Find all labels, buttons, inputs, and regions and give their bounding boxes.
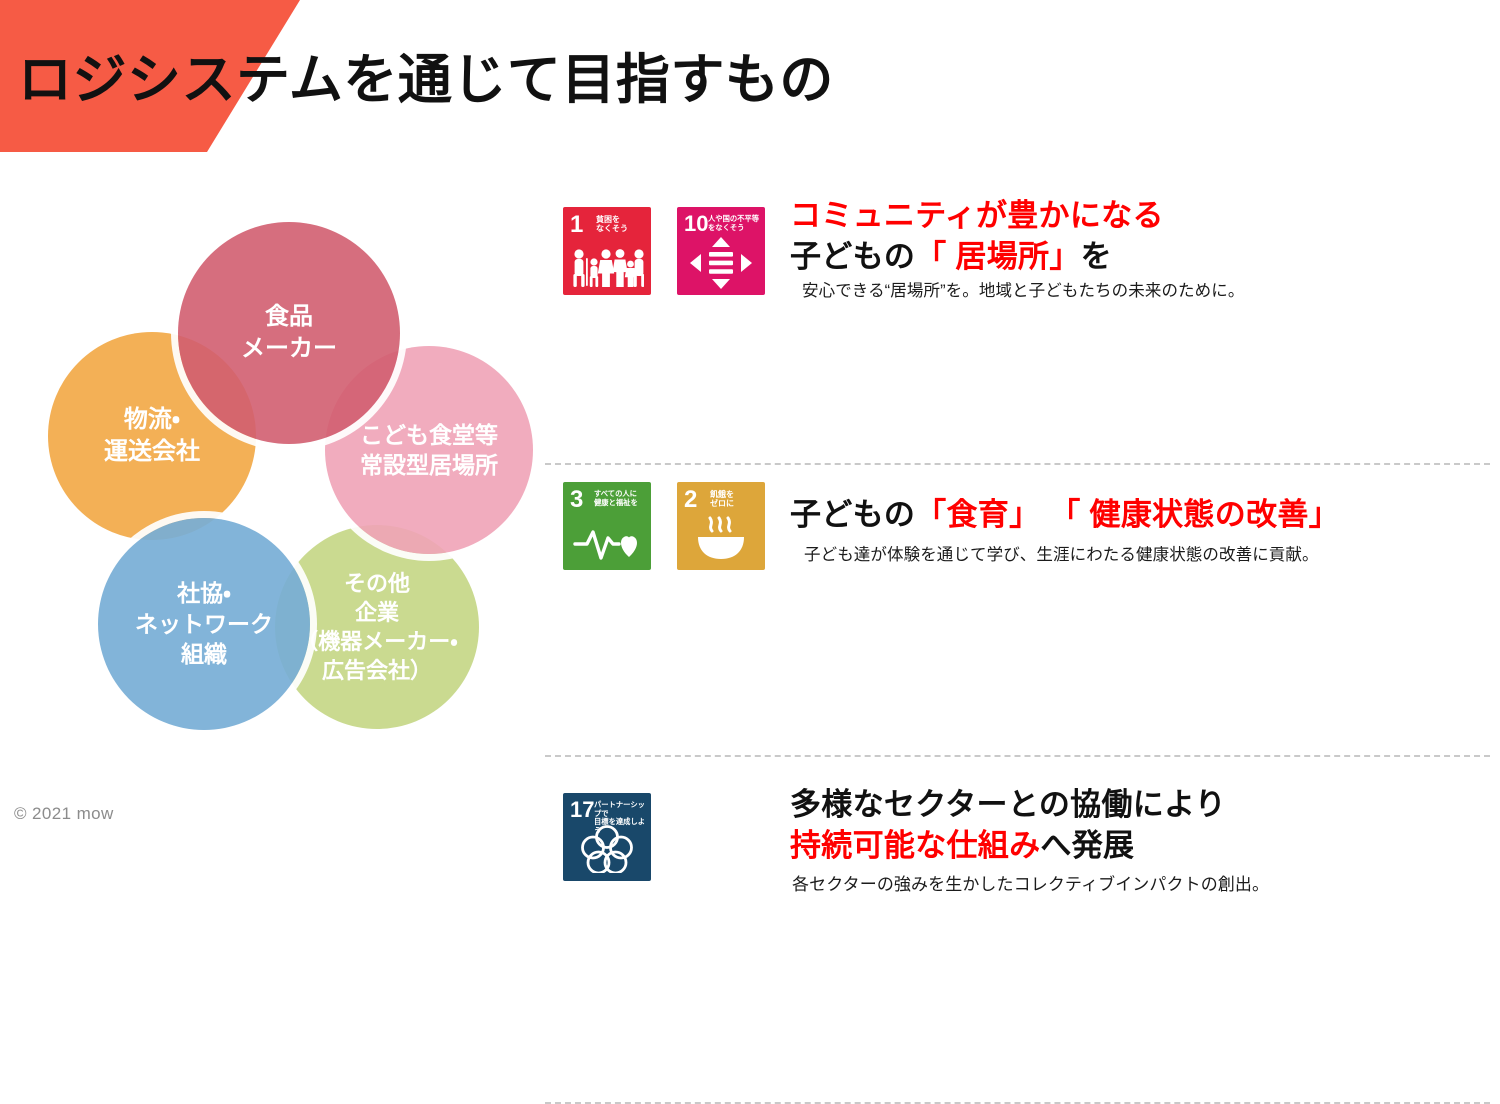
copyright-footer: © 2021 mow: [14, 804, 114, 824]
sdg-caption: 飢餓を ゼロに: [710, 490, 761, 509]
venn-circle-label: 物流・ 運送会社: [104, 404, 200, 467]
sdg-caption: すべての人に 健康と福祉を: [594, 490, 647, 507]
heartbeat-icon: [563, 524, 651, 560]
outcome-text-block: 多様なセクターとの協働により 持続可能な仕組みへ発展 各セクターの強みを生かした…: [790, 757, 1490, 897]
page-title: ロジシステムを通じて目指すもの: [18, 53, 834, 107]
outcome-headline-secondary: 持続可能な仕組みへ発展: [790, 826, 1490, 867]
headline-part-highlight: 「食育」 「 健康状態の改善」: [915, 497, 1340, 532]
venn-circle-food-maker[interactable]: 食品 メーカー: [178, 222, 400, 444]
headline-part: へ発展: [1040, 828, 1134, 863]
sdg-icon-group: 17 パートナーシップで 目標を達成しよう: [545, 757, 790, 881]
venn-circle-label: 食品 メーカー: [241, 301, 337, 364]
outcome-subtext: 安心できる“居場所”を。地域と子どもたちの未来のために。: [790, 280, 1490, 303]
headline-part: 子どもの: [790, 239, 915, 274]
rings-icon: [563, 823, 651, 873]
outcome-row-community: 1 貧困を なくそう: [545, 190, 1490, 303]
sdg-number: 10: [684, 213, 708, 235]
sdg-icon-2-zero-hunger[interactable]: 2 飢餓を ゼロに: [677, 482, 765, 570]
sdg-number: 2: [684, 488, 697, 512]
sdg-number: 3: [570, 488, 583, 512]
row-spacer: [545, 897, 1490, 1102]
outcome-text-block: コミュニティが豊かになる 子どもの「 居場所」を 安心できる“居場所”を。地域と…: [790, 190, 1490, 303]
sdg-number: 17: [570, 799, 594, 821]
venn-circle-label: こども食堂等 常設型居場所: [360, 420, 498, 481]
sdg-caption: 貧困を なくそう: [596, 215, 647, 234]
bowl-icon: [677, 515, 765, 561]
outcome-text-block: 子どもの「食育」 「 健康状態の改善」 子ども達が体験を通じて学び、生涯にわたる…: [790, 465, 1490, 567]
sdg-caption: 人や国の不平等 をなくそう: [708, 215, 761, 232]
headline-part-highlight: 持続可能な仕組み: [790, 828, 1040, 863]
sdg-number: 1: [570, 213, 583, 237]
outcome-headline-primary: コミュニティが豊かになる: [790, 196, 1490, 237]
headline-part: を: [1081, 239, 1112, 274]
headline-part-highlight: 「 居場所」: [915, 239, 1080, 274]
outcome-subtext: 子ども達が体験を通じて学び、生涯にわたる健康状態の改善に貢献。: [790, 544, 1490, 567]
row-divider: [545, 1102, 1490, 1104]
sdg-icon-10-reduced-inequalities[interactable]: 10 人や国の不平等 をなくそう: [677, 207, 765, 295]
outcome-headline-primary: 子どもの「食育」 「 健康状態の改善」: [790, 495, 1490, 536]
outcome-headline-primary: 多様なセクターとの協働により: [790, 785, 1490, 826]
venn-circle-label: 社協・ ネットワーク 組織: [135, 578, 273, 669]
row-spacer: [545, 303, 1490, 463]
sdg-icon-group: 1 貧困を なくそう: [545, 190, 790, 295]
outcome-row-partnership: 17 パートナーシップで 目標を達成しよう: [545, 757, 1490, 897]
slide-root: ロジシステムを通じて目指すもの 食品 メーカー 物流・ 運送会社 こども食堂等 …: [0, 0, 1500, 844]
row-spacer: [545, 570, 1490, 755]
outcome-subtext: 各セクターの強みを生かしたコレクティブインパクトの創出。: [790, 873, 1490, 897]
outcome-headline-secondary: 子どもの「 居場所」を: [790, 237, 1490, 278]
family-icon: [563, 248, 651, 288]
outcome-rows: 1 貧困を なくそう: [545, 190, 1490, 1104]
venn-circle-shakyo-network[interactable]: 社協・ ネットワーク 組織: [98, 518, 310, 730]
sdg-icon-group: 3 すべての人に 健康と福祉を 2 飢餓を ゼロに: [545, 465, 790, 570]
equality-arrows-icon: [677, 237, 765, 289]
sdg-icon-17-partnerships[interactable]: 17 パートナーシップで 目標を達成しよう: [563, 793, 651, 881]
sdg-icon-1-no-poverty[interactable]: 1 貧困を なくそう: [563, 207, 651, 295]
outcome-row-nutrition: 3 すべての人に 健康と福祉を 2 飢餓を ゼロに: [545, 465, 1490, 570]
venn-circle-label: その他 企業 （機器メーカー・ 広告会社）: [296, 569, 457, 685]
stakeholder-venn-diagram: 食品 メーカー 物流・ 運送会社 こども食堂等 常設型居場所 社協・ ネットワー…: [0, 200, 540, 760]
headline-part: 子どもの: [790, 497, 915, 532]
sdg-icon-3-good-health[interactable]: 3 すべての人に 健康と福祉を: [563, 482, 651, 570]
